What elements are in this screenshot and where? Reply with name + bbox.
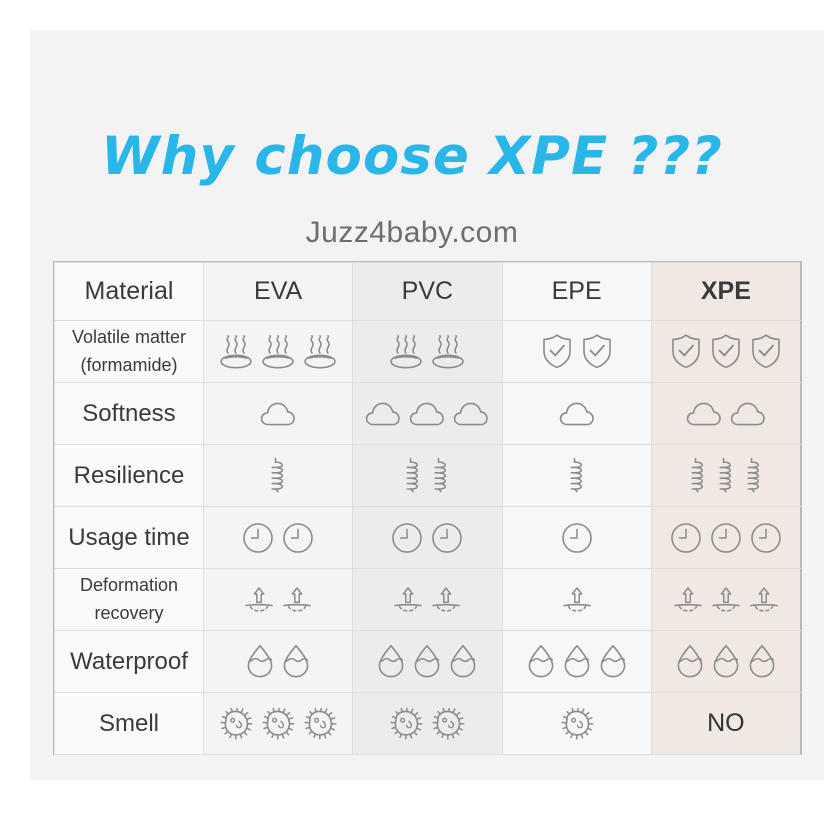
rebound-arrow-icon <box>562 585 592 615</box>
cloud-icon <box>730 400 766 428</box>
cloud-icon <box>365 400 401 428</box>
cell-pvc-2 <box>353 445 502 507</box>
table-row: Softness <box>55 383 801 445</box>
spring-icon <box>268 456 288 496</box>
icon-group-epe <box>503 631 651 692</box>
steam-icon <box>261 334 295 370</box>
icon-group-eva <box>204 383 352 444</box>
icon-group-pvc <box>353 693 501 754</box>
table-row: Resilience <box>55 445 801 507</box>
page-root: Why choose XPE ??? Juzz4baby.com Materia… <box>0 0 824 824</box>
water-drop-icon <box>246 644 274 679</box>
icon-group-eva <box>204 569 352 630</box>
shield-check-icon <box>750 333 782 370</box>
cell-xpe-6: NO <box>651 693 800 755</box>
column-header-xpe: XPE <box>651 263 800 321</box>
icon-group-epe <box>503 569 651 630</box>
material-comparison-table: MaterialEVAPVCEPEXPEVolatile matter(form… <box>54 262 801 755</box>
cell-epe-3 <box>502 507 651 569</box>
row-label-line2: (formamide) <box>80 355 177 375</box>
icon-group-pvc <box>353 569 501 630</box>
water-drop-icon <box>748 644 776 679</box>
rebound-arrow-icon <box>431 585 461 615</box>
water-drop-icon <box>449 644 477 679</box>
icon-group-pvc <box>353 507 501 568</box>
clock-icon <box>750 522 782 554</box>
cell-eva-3 <box>204 507 353 569</box>
row-label-line2: recovery <box>94 603 163 623</box>
cell-xpe-3 <box>651 507 800 569</box>
cell-epe-6 <box>502 693 651 755</box>
clock-icon <box>282 522 314 554</box>
clock-icon <box>242 522 274 554</box>
rebound-arrow-icon <box>282 585 312 615</box>
water-drop-icon <box>527 644 555 679</box>
germ-icon <box>431 708 465 740</box>
rebound-arrow-icon <box>393 585 423 615</box>
shield-check-icon <box>541 333 573 370</box>
cloud-icon <box>453 400 489 428</box>
row-label-0: Volatile matter(formamide) <box>55 321 204 383</box>
icon-group-xpe <box>652 569 800 630</box>
water-drop-icon <box>282 644 310 679</box>
spring-icon <box>688 456 708 496</box>
spring-icon <box>716 456 736 496</box>
row-label-3: Usage time <box>55 507 204 569</box>
cloud-icon <box>559 400 595 428</box>
cell-epe-0 <box>502 321 651 383</box>
table-header-row: MaterialEVAPVCEPEXPE <box>55 263 801 321</box>
cell-pvc-1 <box>353 383 502 445</box>
cell-pvc-6 <box>353 693 502 755</box>
germ-icon <box>303 708 337 740</box>
icon-group-eva <box>204 693 352 754</box>
icon-group-epe <box>503 383 651 444</box>
table-row: Volatile matter(formamide) <box>55 321 801 383</box>
steam-icon <box>431 334 465 370</box>
germ-icon <box>261 708 295 740</box>
icon-group-pvc <box>353 383 501 444</box>
spring-icon <box>431 456 451 496</box>
icon-group-eva <box>204 631 352 692</box>
water-drop-icon <box>377 644 405 679</box>
steam-icon <box>389 334 423 370</box>
row-label-4: Deformationrecovery <box>55 569 204 631</box>
rebound-arrow-icon <box>673 585 703 615</box>
rebound-arrow-icon <box>244 585 274 615</box>
clock-icon <box>431 522 463 554</box>
icon-group-epe <box>503 693 651 754</box>
row-label-6: Smell <box>55 693 204 755</box>
row-label-2: Resilience <box>55 445 204 507</box>
water-drop-icon <box>563 644 591 679</box>
cell-pvc-4 <box>353 569 502 631</box>
cell-xpe-4 <box>651 569 800 631</box>
clock-icon <box>391 522 423 554</box>
water-drop-icon <box>676 644 704 679</box>
table-row: SmellNO <box>55 693 801 755</box>
cell-epe-5 <box>502 631 651 693</box>
icon-group-epe <box>503 507 651 568</box>
cell-pvc-0 <box>353 321 502 383</box>
icon-group-epe <box>503 321 651 382</box>
steam-icon <box>303 334 337 370</box>
icon-group-xpe <box>652 507 800 568</box>
spring-icon <box>744 456 764 496</box>
icon-group-xpe <box>652 383 800 444</box>
site-watermark: Juzz4baby.com <box>0 216 824 250</box>
shield-check-icon <box>710 333 742 370</box>
shield-check-icon <box>581 333 613 370</box>
table-body: MaterialEVAPVCEPEXPEVolatile matter(form… <box>55 263 801 755</box>
table-row: Waterproof <box>55 631 801 693</box>
icon-group-xpe <box>652 445 800 506</box>
icon-group-eva <box>204 507 352 568</box>
water-drop-icon <box>599 644 627 679</box>
icon-group-epe <box>503 445 651 506</box>
cloud-icon <box>409 400 445 428</box>
row-label-line1: Volatile matter <box>72 327 186 347</box>
cell-eva-2 <box>204 445 353 507</box>
cell-epe-2 <box>502 445 651 507</box>
spring-icon <box>567 456 587 496</box>
column-header-eva: EVA <box>204 263 353 321</box>
germ-icon <box>389 708 423 740</box>
icon-group-pvc <box>353 445 501 506</box>
cell-xpe-0 <box>651 321 800 383</box>
water-drop-icon <box>413 644 441 679</box>
cell-xpe-1 <box>651 383 800 445</box>
row-label-5: Waterproof <box>55 631 204 693</box>
cell-eva-0 <box>204 321 353 383</box>
steam-icon <box>219 334 253 370</box>
row-label-1: Softness <box>55 383 204 445</box>
column-header-epe: EPE <box>502 263 651 321</box>
cell-eva-4 <box>204 569 353 631</box>
cell-xpe-2 <box>651 445 800 507</box>
cell-epe-1 <box>502 383 651 445</box>
table-row: Usage time <box>55 507 801 569</box>
comparison-table-wrapper: MaterialEVAPVCEPEXPEVolatile matter(form… <box>53 261 802 755</box>
icon-group-xpe <box>652 631 800 692</box>
icon-group-pvc <box>353 321 501 382</box>
rebound-arrow-icon <box>749 585 779 615</box>
spring-icon <box>403 456 423 496</box>
germ-icon <box>560 708 594 740</box>
cell-text-xpe: NO <box>707 709 745 737</box>
cell-xpe-5 <box>651 631 800 693</box>
rebound-arrow-icon <box>711 585 741 615</box>
page-title: Why choose XPE ??? <box>0 126 824 187</box>
cell-pvc-5 <box>353 631 502 693</box>
column-header-label: Material <box>55 263 204 321</box>
cloud-icon <box>686 400 722 428</box>
column-header-pvc: PVC <box>353 263 502 321</box>
shield-check-icon <box>670 333 702 370</box>
clock-icon <box>670 522 702 554</box>
icon-group-eva <box>204 445 352 506</box>
clock-icon <box>710 522 742 554</box>
water-drop-icon <box>712 644 740 679</box>
icon-group-eva <box>204 321 352 382</box>
cloud-icon <box>260 400 296 428</box>
germ-icon <box>219 708 253 740</box>
icon-group-xpe <box>652 321 800 382</box>
cell-pvc-3 <box>353 507 502 569</box>
icon-group-pvc <box>353 631 501 692</box>
row-label-line1: Deformation <box>80 575 178 595</box>
clock-icon <box>561 522 593 554</box>
table-row: Deformationrecovery <box>55 569 801 631</box>
cell-eva-5 <box>204 631 353 693</box>
cell-eva-6 <box>204 693 353 755</box>
cell-eva-1 <box>204 383 353 445</box>
cell-epe-4 <box>502 569 651 631</box>
